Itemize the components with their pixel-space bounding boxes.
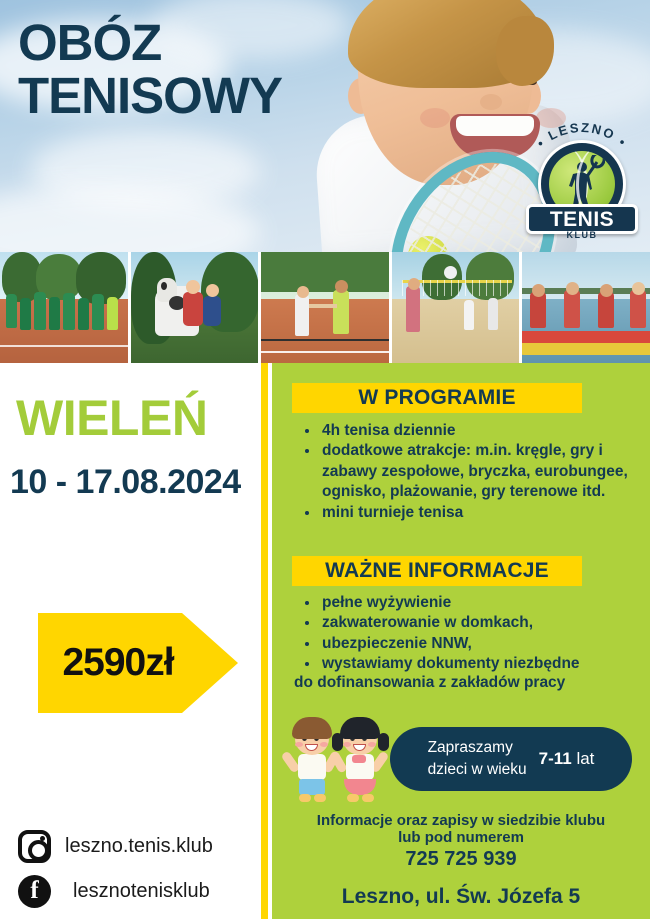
- price-badge: 2590zł: [38, 613, 238, 713]
- price-value: 2590zł: [38, 613, 198, 713]
- left-info-panel: WIELEŃ 10 - 17.08.2024 2590zł leszno.ten…: [0, 363, 258, 919]
- age-line-2: dzieci w wieku: [428, 759, 527, 781]
- important-heading: WAŻNE INFORMACJE: [292, 556, 582, 586]
- age-range-unit: lat: [576, 749, 594, 768]
- hero-banner: OBÓZ TENISOWY • LESZNO • TENIS KLUB: [0, 0, 650, 252]
- camp-location: WIELEŃ: [16, 393, 246, 443]
- list-item: dodatkowe atrakcje: m.in. kręgle, gry i …: [320, 441, 644, 502]
- social-instagram[interactable]: leszno.tenis.klub: [18, 830, 258, 863]
- title-line-1: OBÓZ: [18, 18, 282, 68]
- facebook-icon[interactable]: f: [18, 875, 51, 908]
- facebook-handle[interactable]: lesznotenisklub: [73, 880, 210, 903]
- boy-character-icon: [286, 711, 338, 807]
- list-item: zakwaterowanie w domkach,: [320, 613, 644, 633]
- contact-block: Informacje oraz zapisy w siedzibie klubu…: [272, 812, 650, 909]
- list-item: wystawiamy dokumenty niezbędne: [320, 654, 644, 674]
- vertical-divider: [261, 363, 268, 919]
- club-logo: • LESZNO • TENIS KLUB: [524, 118, 640, 246]
- photo-horse-riding: [131, 252, 259, 363]
- age-range: 7-11 lat: [539, 749, 595, 769]
- instagram-handle[interactable]: leszno.tenis.klub: [65, 835, 213, 858]
- contact-phone[interactable]: 725 725 939: [272, 848, 650, 871]
- logo-sub-text: KLUB: [526, 230, 638, 240]
- photo-tennis-group: [0, 252, 128, 363]
- list-item: pełne wyżywienie: [320, 593, 644, 613]
- social-links: leszno.tenis.klub f lesznotenisklub: [18, 830, 258, 920]
- program-heading: W PROGRAMIE: [292, 383, 582, 413]
- age-banner-text: Zapraszamy dzieci w wieku: [428, 737, 527, 781]
- photo-beach-volleyball: [392, 252, 520, 363]
- program-panel: W PROGRAMIE 4h tenisa dziennie dodatkowe…: [272, 363, 650, 919]
- program-list: 4h tenisa dziennie dodatkowe atrakcje: m…: [304, 421, 644, 523]
- boy-cheek-left: [420, 108, 450, 128]
- important-list: pełne wyżywienie zakwaterowanie w domkac…: [304, 593, 644, 675]
- photo-tennis-handshake: [261, 252, 389, 363]
- page-title: OBÓZ TENISOWY: [18, 18, 282, 122]
- list-item: mini turnieje tenisa: [320, 503, 644, 523]
- photo-banana-boat: [522, 252, 650, 363]
- age-range-value: 7-11: [539, 749, 572, 768]
- boy-teeth: [456, 116, 534, 136]
- title-line-2: TENISOWY: [18, 71, 282, 121]
- boy-nose: [480, 94, 502, 110]
- photo-strip: [0, 252, 650, 363]
- age-banner: Zapraszamy dzieci w wieku 7-11 lat: [390, 727, 632, 791]
- children-illustration: [286, 711, 396, 807]
- important-note: do dofinansowania z zakładów pracy: [294, 674, 644, 692]
- camp-dates: 10 - 17.08.2024: [10, 463, 255, 502]
- list-item: ubezpieczenie NNW,: [320, 634, 644, 654]
- contact-address: Leszno, ul. Św. Józefa 5: [272, 885, 650, 909]
- age-line-1: Zapraszamy: [428, 737, 527, 759]
- list-item: 4h tenisa dziennie: [320, 421, 644, 441]
- instagram-icon[interactable]: [18, 830, 51, 863]
- contact-line-2: lub pod numerem: [272, 829, 650, 846]
- boy-hair: [348, 0, 546, 88]
- contact-line-1: Informacje oraz zapisy w siedzibie klubu: [272, 812, 650, 829]
- girl-character-icon: [334, 711, 386, 807]
- social-facebook[interactable]: f lesznotenisklub: [18, 875, 258, 908]
